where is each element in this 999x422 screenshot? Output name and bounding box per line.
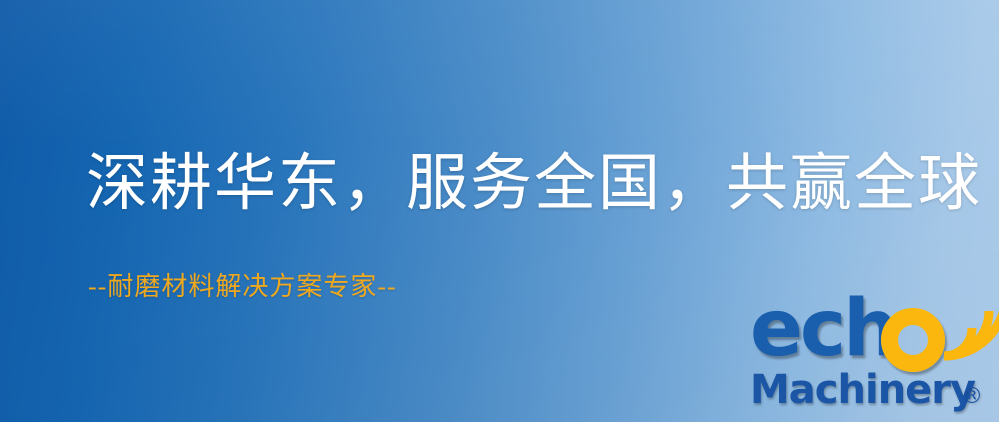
promotional-banner: 深耕华东，服务全国，共赢全球 --耐磨材料解决方案专家-- ech Machin…: [0, 0, 999, 422]
banner-subtitle: --耐磨材料解决方案专家--: [88, 266, 397, 303]
logo-wordmark-top: ech: [750, 296, 960, 368]
logo-echo-text: ech: [750, 290, 896, 368]
echo-machinery-logo: ech Machinery ®: [748, 296, 996, 422]
logo-machinery-text: Machinery: [750, 368, 975, 412]
signal-arcs-icon: [928, 288, 999, 364]
banner-headline: 深耕华东，服务全国，共赢全球: [86, 152, 982, 218]
registered-trademark-mark: ®: [961, 384, 983, 409]
